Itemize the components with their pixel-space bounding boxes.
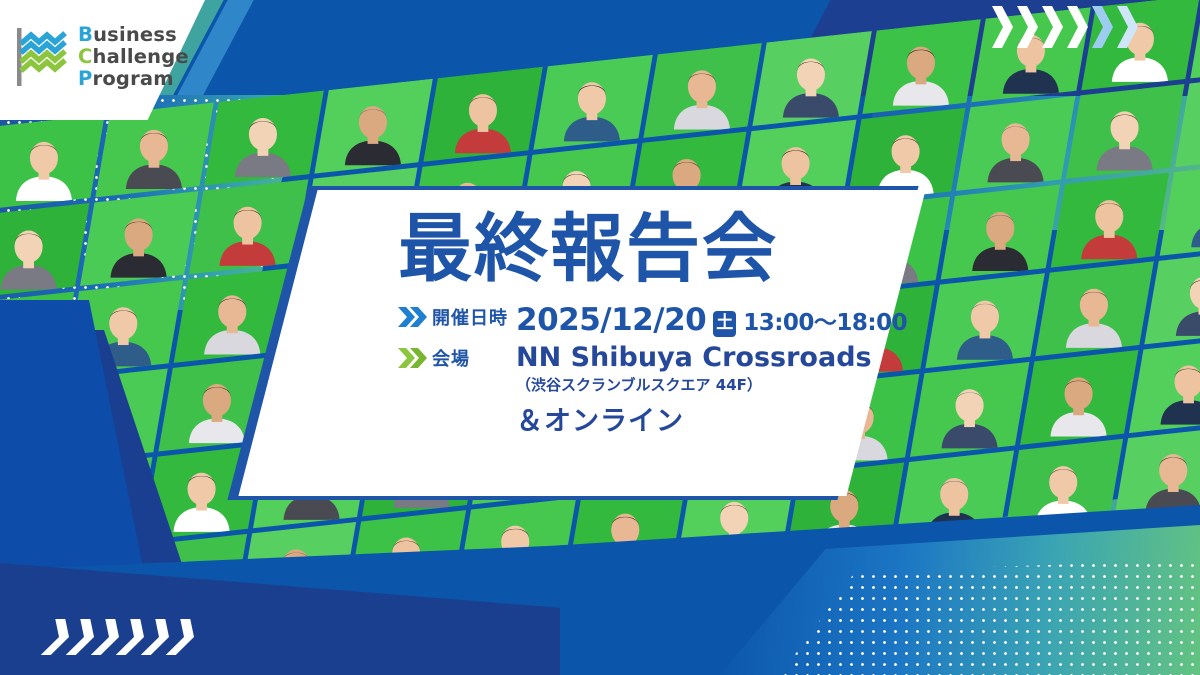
chevron-cluster-icon-top-right <box>992 4 1172 50</box>
photo-tile <box>1051 173 1170 268</box>
photo-tile <box>862 19 981 114</box>
person-photo-icon <box>1046 365 1111 436</box>
person-photo-icon <box>873 123 938 194</box>
person-photo-icon <box>1077 188 1142 259</box>
person-photo-icon <box>1062 277 1127 348</box>
venue-online: ＆オンライン <box>516 399 872 438</box>
person-photo-icon <box>450 82 515 153</box>
brand-rest-3: rogram <box>93 67 174 90</box>
person-photo-icon <box>779 46 844 117</box>
event-venue-value: NN Shibuya Crossroads （渋谷スクランブルスクエア 44F）… <box>516 343 872 438</box>
event-date-row: 開催日時 2025/12/20 土 13:00〜18:00 <box>398 302 868 339</box>
photo-tile <box>424 67 543 162</box>
brand-initial-c: C <box>78 45 93 68</box>
photo-tile <box>314 79 433 174</box>
chevron-right-icon <box>1017 4 1039 50</box>
person-photo-icon <box>1187 176 1200 247</box>
photo-tile <box>205 91 324 186</box>
person-photo-icon <box>1171 265 1200 336</box>
chevron-right-icon <box>1117 4 1139 50</box>
event-date-value: 2025/12/20 土 13:00〜18:00 <box>516 302 907 339</box>
person-photo-icon <box>341 94 406 165</box>
chevron-right-icon <box>1042 4 1064 50</box>
photo-tile <box>533 55 652 150</box>
brand-logo: Business Challenge Program <box>14 24 189 89</box>
person-photo-icon <box>106 206 171 277</box>
person-photo-icon <box>937 377 1002 448</box>
photo-tile <box>926 273 1045 368</box>
photo-tile <box>643 43 762 138</box>
person-photo-icon <box>952 288 1017 359</box>
person-photo-icon <box>185 372 250 443</box>
person-photo-icon <box>1092 99 1157 170</box>
photo-tile <box>1066 84 1185 179</box>
event-venue-row: 会場 NN Shibuya Crossroads （渋谷スクランブルスクエア 4… <box>398 343 868 438</box>
person-photo-icon <box>669 58 734 129</box>
person-photo-icon <box>1156 353 1200 424</box>
chevron-right-icon <box>1092 4 1114 50</box>
person-photo-icon <box>0 218 61 289</box>
brand-line-1: Business <box>78 24 189 46</box>
info-panel-content: 最終報告会 開催日時 2025/12/20 土 13:00〜18:00 <box>278 190 886 496</box>
event-time-text: 13:00〜18:00 <box>743 303 907 337</box>
brand-line-3: Program <box>78 68 189 90</box>
chevron-cluster-icon-bottom-left <box>40 617 216 657</box>
event-day-badge: 土 <box>713 311 736 337</box>
photo-tile <box>910 362 1029 457</box>
person-photo-icon <box>231 106 296 177</box>
page-title: 最終報告会 <box>398 212 868 286</box>
photo-tile <box>0 203 89 298</box>
photo-tile <box>956 96 1075 191</box>
brand-rest-1: usiness <box>93 23 177 46</box>
double-chevron-right-icon-date <box>398 306 428 328</box>
brand-rest-2: hallenge <box>93 45 189 68</box>
brand-line-2: Challenge <box>78 46 189 68</box>
person-photo-icon <box>216 194 281 265</box>
person-photo-icon <box>200 283 265 354</box>
photo-tile <box>0 114 104 209</box>
chevron-right-icon <box>992 4 1014 50</box>
photo-tile <box>752 31 871 126</box>
photo-tile <box>1035 261 1154 356</box>
event-date-label: 開催日時 <box>432 302 516 330</box>
photo-tile <box>80 191 199 286</box>
event-venue-label: 会場 <box>432 343 516 371</box>
venue-address: （渋谷スクランブルスクエア 44F） <box>516 374 872 395</box>
brand-initial-p: P <box>78 67 93 90</box>
person-photo-icon <box>889 34 954 105</box>
flag-waves-icon <box>14 26 70 88</box>
photo-tile <box>1129 338 1200 433</box>
brand-logo-text: Business Challenge Program <box>78 24 189 89</box>
double-chevron-right-icon-venue <box>398 347 428 369</box>
chevron-right-icon <box>1067 4 1089 50</box>
person-photo-icon <box>121 118 186 189</box>
person-photo-icon <box>12 130 77 201</box>
photo-tile <box>941 185 1060 280</box>
brand-initial-b: B <box>78 23 93 46</box>
venue-name: NN Shibuya Crossroads <box>516 343 872 373</box>
person-photo-icon <box>1141 442 1200 513</box>
person-photo-icon <box>967 200 1032 271</box>
photo-tile <box>1020 350 1139 445</box>
event-date-text: 2025/12/20 <box>516 302 706 338</box>
event-poster: 最終報告会 開催日時 2025/12/20 土 13:00〜18:00 <box>0 0 1200 675</box>
person-photo-icon <box>560 70 625 141</box>
person-photo-icon <box>170 460 235 531</box>
person-photo-icon <box>983 111 1048 182</box>
